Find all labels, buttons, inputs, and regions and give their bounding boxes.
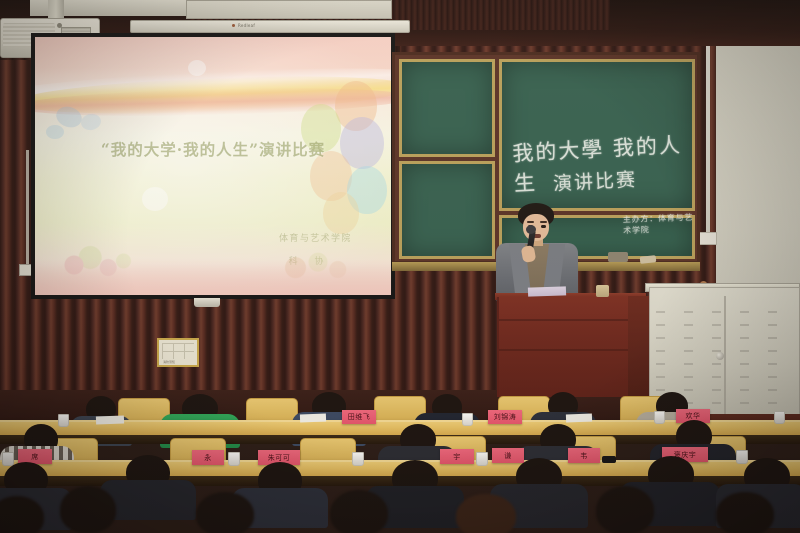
projector-screen-housing xyxy=(130,20,410,33)
blackboard-panel-left-top xyxy=(399,59,495,157)
podium xyxy=(497,297,644,397)
desk-paper xyxy=(566,414,592,423)
desk-paper xyxy=(96,416,124,425)
notice-grid xyxy=(162,343,194,359)
paper-cup[interactable] xyxy=(736,450,748,464)
wall-outlet-box-right xyxy=(699,232,717,245)
blackboard-eraser[interactable] xyxy=(608,252,628,262)
paper-cup[interactable] xyxy=(476,452,488,466)
paper-cup[interactable] xyxy=(352,452,364,466)
wall-conduit-left xyxy=(26,150,29,270)
speaker-eyebrow-right xyxy=(540,221,547,223)
lecture-hall-photo: Redleaf “我的大学·我的人生”演讲比赛 体育与艺术学院 科 协 xyxy=(0,0,800,533)
slide-bokeh-1 xyxy=(142,187,168,211)
paper-cup[interactable] xyxy=(228,452,240,466)
paper-cup[interactable] xyxy=(58,414,69,427)
audience-head-foreground xyxy=(456,494,516,533)
paper-cup[interactable] xyxy=(2,452,14,466)
projection-screen-frame: “我的大学·我的人生”演讲比赛 体育与艺术学院 科 协 xyxy=(31,33,395,299)
audience-head-foreground xyxy=(196,492,254,533)
speaker-eye-right xyxy=(541,225,546,228)
name-placard: 韦 xyxy=(568,448,600,463)
slide-bottom-band xyxy=(35,259,391,295)
paper-cup[interactable] xyxy=(774,411,785,424)
audience-head-foreground xyxy=(330,490,388,533)
speech-papers[interactable] xyxy=(528,286,566,296)
mobile-phone[interactable] xyxy=(602,456,616,463)
name-placard: 刘锦涛 xyxy=(488,410,522,424)
cabinet-door-seam xyxy=(724,296,726,415)
slide-blue-shape-3 xyxy=(46,125,64,139)
screen-housing-upper xyxy=(186,0,392,19)
name-placard: 谦 xyxy=(492,448,524,463)
paper-cup[interactable] xyxy=(654,411,665,424)
name-placard: 田维飞 xyxy=(342,410,376,424)
audience-head-foreground xyxy=(596,486,654,533)
chalk-organizer: 主办方：体育与艺术学院 xyxy=(623,212,698,237)
name-placard: 宇 xyxy=(440,449,474,464)
housing-brand-label: Redleaf xyxy=(238,23,255,28)
speaker-eyebrow-left xyxy=(527,221,534,223)
projection-screen-surface: “我的大学·我的人生”演讲比赛 体育与艺术学院 科 协 xyxy=(35,37,391,295)
name-placard: 永 xyxy=(192,450,224,465)
audience-head-foreground xyxy=(60,486,116,533)
podium-cup[interactable] xyxy=(596,285,609,297)
wall-notice-plate: 消防须知 xyxy=(157,338,199,367)
desk-paper xyxy=(300,414,326,423)
audience-head-foreground xyxy=(716,492,774,533)
housing-logo-dot xyxy=(232,24,235,27)
microphone-head xyxy=(526,225,536,234)
podium-panel-seam-1 xyxy=(499,319,644,321)
chalk-subheadline: 演讲比赛 xyxy=(552,165,637,196)
speaker-hand xyxy=(521,245,537,263)
podium-panel-seam-2 xyxy=(499,349,644,351)
slide-title: “我的大学·我的人生”演讲比赛 xyxy=(35,138,391,160)
slide-balloon-yellow xyxy=(323,192,359,234)
cabinet-door-handle[interactable] xyxy=(716,352,724,360)
blackboard-panel-left-bottom xyxy=(399,161,495,259)
screen-bottom-weight xyxy=(194,298,220,307)
notice-caption: 消防须知 xyxy=(163,360,175,364)
paper-cup[interactable] xyxy=(462,413,473,426)
